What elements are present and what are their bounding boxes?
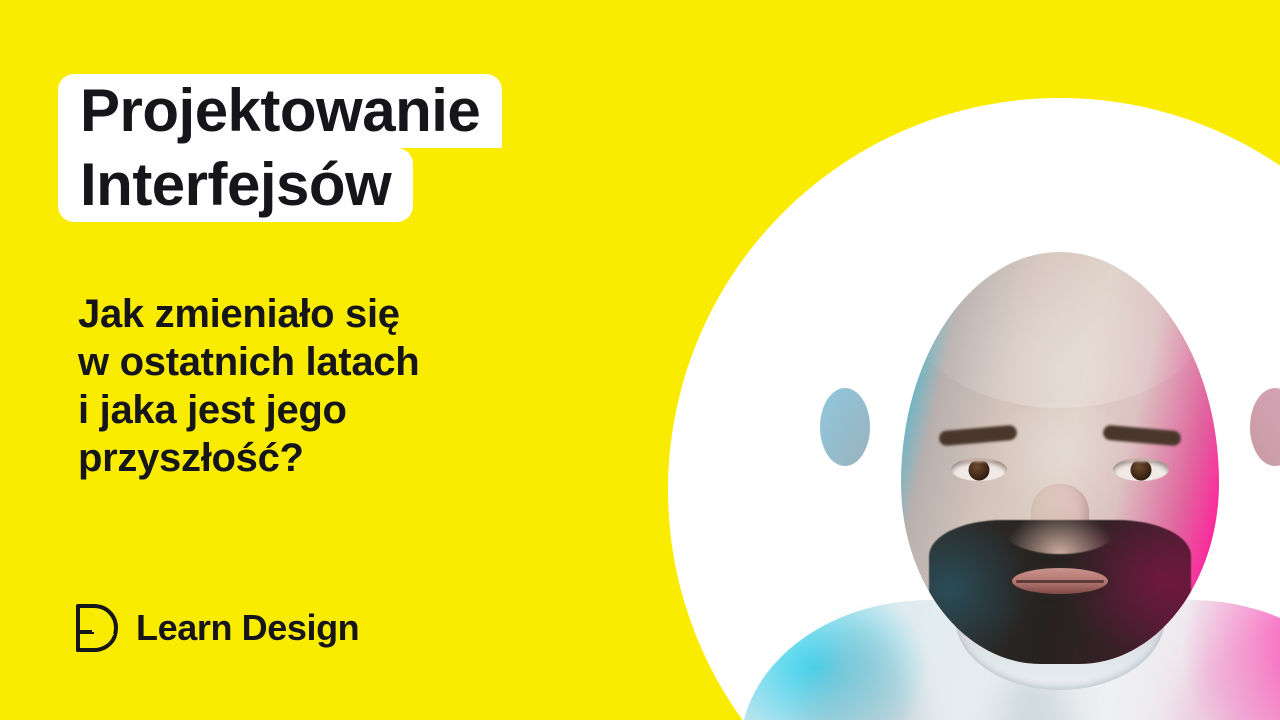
- tshirt-fold-right: [1170, 646, 1280, 720]
- iris-left: [969, 459, 990, 480]
- ear-left: [820, 388, 870, 466]
- portrait-image: [668, 98, 1280, 720]
- portrait-medallion: [668, 98, 1280, 720]
- learn-design-d-monogram-icon: [72, 602, 120, 654]
- subtitle-line-2: w ostatnich latach: [78, 338, 419, 386]
- title-line-2: Interfejsów: [58, 148, 413, 222]
- slide-subtitle: Jak zmieniało się w ostatnich latach i j…: [78, 290, 419, 482]
- iris-right: [1131, 459, 1152, 480]
- scalp-highlight: [910, 252, 1210, 408]
- lip-line: [1016, 580, 1104, 583]
- eye-right: [1113, 458, 1169, 481]
- subtitle-line-3: i jaka jest jego: [78, 386, 419, 434]
- tshirt-fold-left: [800, 630, 920, 720]
- eyelid-right: [1113, 458, 1169, 462]
- brand-lockup: Learn Design: [72, 602, 359, 654]
- brand-name-label: Learn Design: [136, 610, 359, 646]
- head: [901, 252, 1219, 664]
- eye-left: [951, 458, 1007, 481]
- subtitle-line-4: przyszłość?: [78, 434, 419, 482]
- presentation-slide: Projektowanie Interfejsów Jak zmieniało …: [0, 0, 1280, 720]
- title-line-1: Projektowanie: [58, 74, 502, 148]
- ear-right: [1250, 388, 1280, 466]
- subtitle-line-1: Jak zmieniało się: [78, 290, 419, 338]
- slide-title: Projektowanie Interfejsów: [58, 74, 502, 222]
- eyelid-left: [951, 458, 1007, 462]
